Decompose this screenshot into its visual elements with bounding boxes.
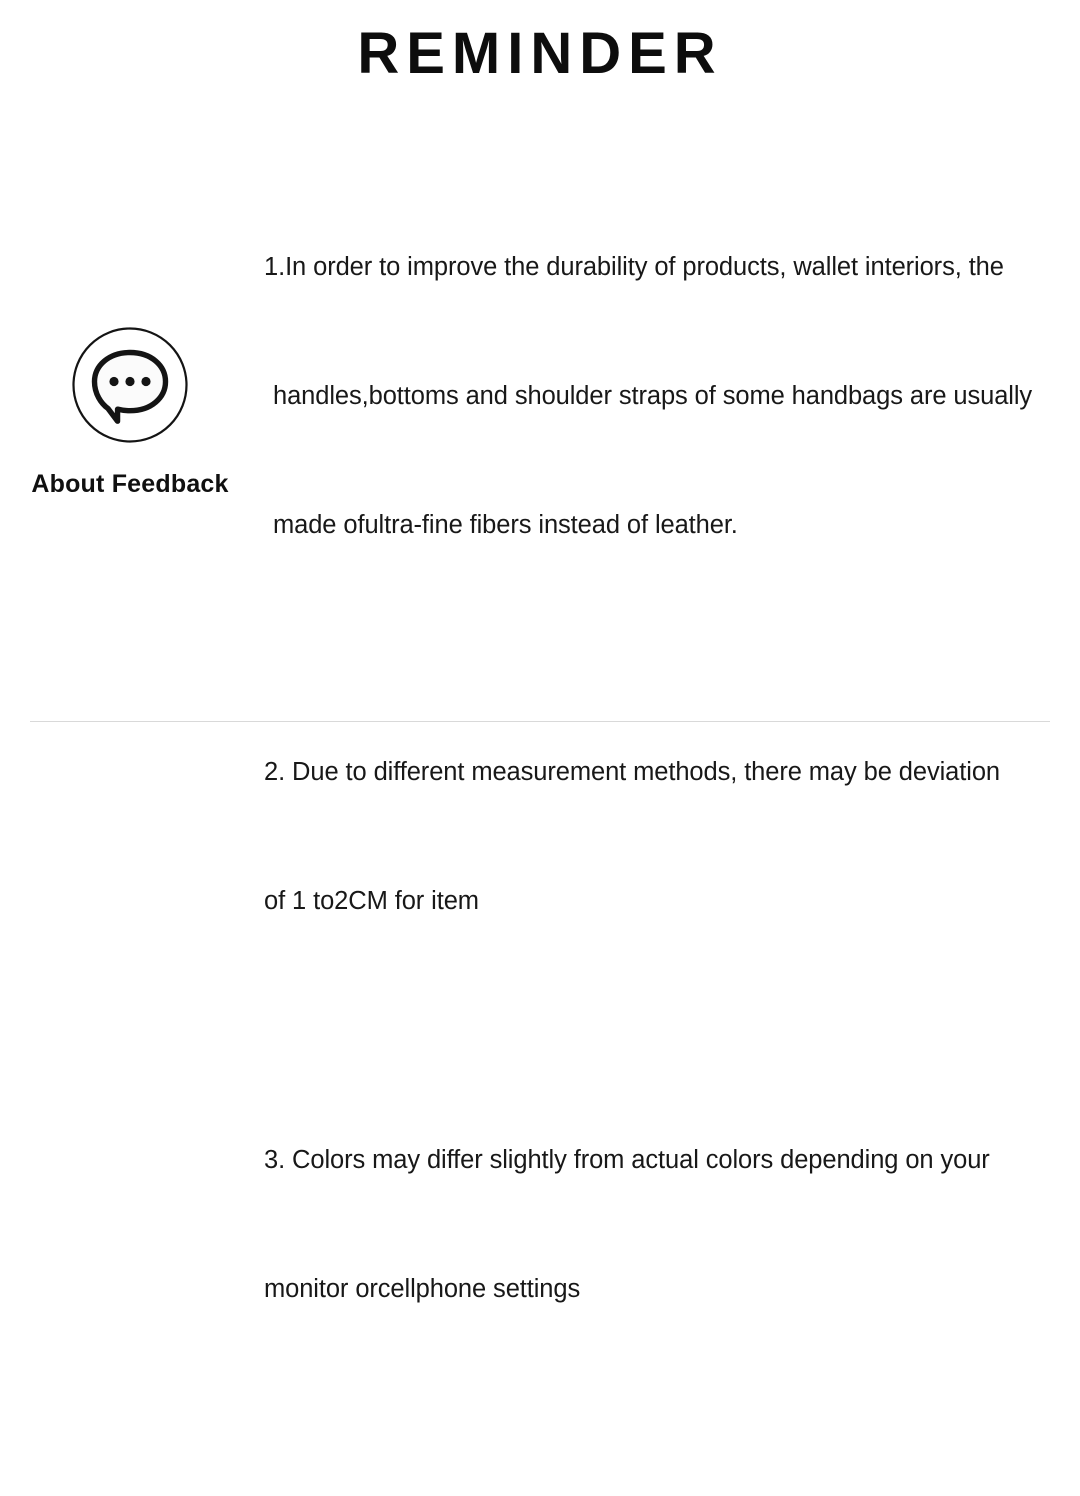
note-2: 2. Due to different measurement methods,… — [264, 665, 1070, 1009]
reminder-page: REMINDER About Feedback 1.In order to im… — [0, 0, 1080, 748]
note-3-line-2: monitor orcellphone settings — [264, 1268, 1070, 1311]
note-1-line-3: made ofultra-fine fibers instead of leat… — [264, 504, 1070, 547]
about-feedback-label: About Feedback — [14, 470, 246, 499]
note-2-line-1: 2. Due to different measurement methods,… — [264, 751, 1070, 794]
note-1-line-1: 1.In order to improve the durability of … — [264, 246, 1070, 289]
chat-bubble-icon — [71, 326, 189, 444]
page-title: REMINDER — [0, 24, 1080, 85]
note-4: 4. There might be a little flavour as yo… — [264, 1440, 1070, 1496]
note-1-line-2: handles,bottoms and shoulder straps of s… — [264, 375, 1070, 418]
note-3-line-1: 3. Colors may differ slightly from actua… — [264, 1139, 1070, 1182]
note-1: 1.In order to improve the durability of … — [264, 160, 1070, 633]
reminder-notes: 1.In order to improve the durability of … — [264, 160, 1070, 1496]
note-2-line-2: of 1 to2CM for item — [264, 880, 1070, 923]
note-3: 3. Colors may differ slightly from actua… — [264, 1053, 1070, 1397]
bottom-divider — [30, 721, 1050, 722]
about-feedback-badge: About Feedback — [14, 326, 246, 499]
